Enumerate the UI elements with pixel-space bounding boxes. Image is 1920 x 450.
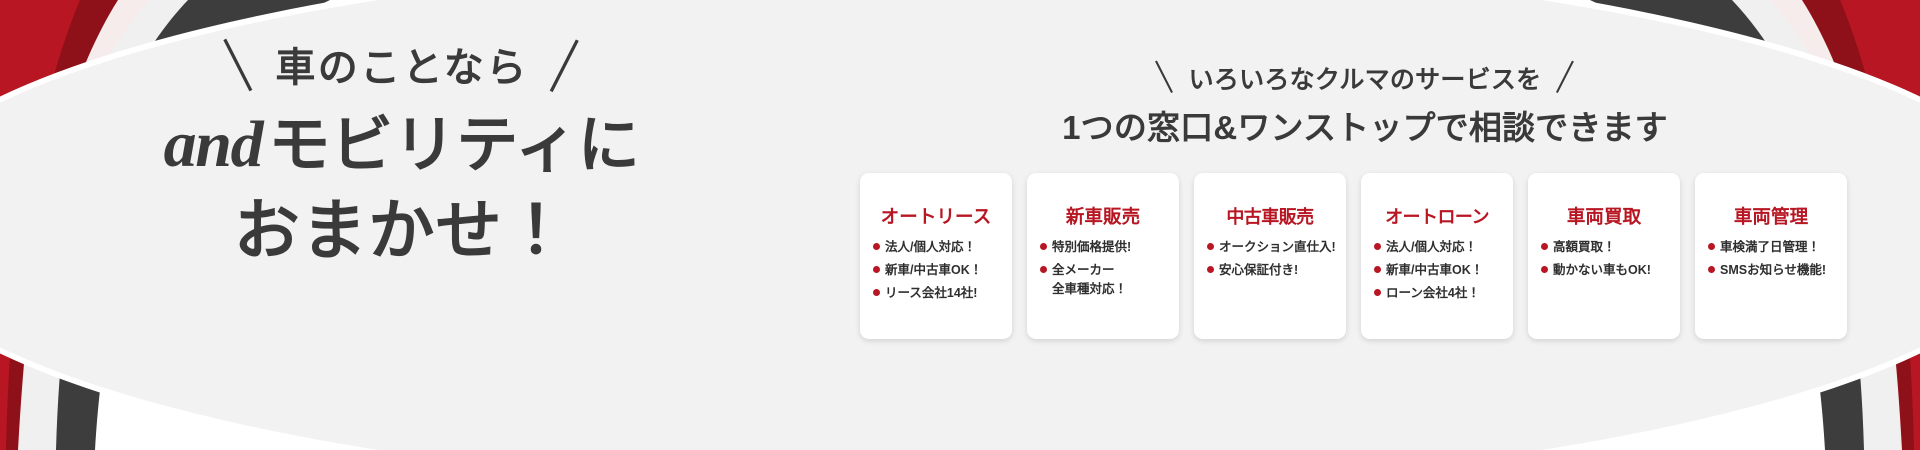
brand-rest-text: モビリティに [268, 111, 640, 180]
list-item: 動かない車もOK! [1535, 261, 1673, 280]
card-feature-text: オークション直仕入! [1219, 238, 1336, 257]
list-item: 全メーカー全車種対応！ [1034, 261, 1172, 299]
slash-left-icon: ＼ [1147, 61, 1181, 95]
sub-headline-main: 1つの窓口&ワンストップで相談できます [860, 101, 1870, 149]
card-title: 新車販売 [1066, 203, 1140, 229]
card-feature-text: リース会社14社! [885, 284, 977, 303]
bullet-dot-icon [1541, 243, 1548, 250]
left-last-line: おまかせ！ [92, 194, 712, 267]
bullet-dot-icon [1040, 266, 1047, 273]
card-feature-text: ローン会社4社！ [1386, 284, 1480, 303]
list-item: ローン会社4社！ [1368, 284, 1506, 303]
service-card-auto-lease[interactable]: オートリース 法人/個人対応！ 新車/中古車OK！ リース会社14社! [860, 173, 1012, 339]
sub-headline-top: ＼ いろいろなクルマのサービスを ／ [860, 60, 1870, 96]
bullet-dot-icon [873, 266, 880, 273]
list-item: SMSお知らせ機能! [1702, 261, 1840, 280]
card-feature-text: 高額買取！ [1553, 238, 1616, 257]
card-feature-text: 法人/個人対応！ [885, 238, 976, 257]
right-services-block: ＼ いろいろなクルマのサービスを ／ 1つの窓口&ワンストップで相談できます オ… [860, 60, 1870, 339]
service-card-vehicle-purchase[interactable]: 車両買取 高額買取！ 動かない車もOK! [1528, 173, 1680, 339]
card-feature-list: オークション直仕入! 安心保証付き! [1201, 238, 1339, 284]
list-item: 新車/中古車OK！ [867, 261, 1005, 280]
list-item: 法人/個人対応！ [1368, 238, 1506, 257]
card-feature-list: 法人/個人対応！ 新車/中古車OK！ ローン会社4社！ [1368, 238, 1506, 306]
service-card-auto-loan[interactable]: オートローン 法人/個人対応！ 新車/中古車OK！ ローン会社4社！ [1361, 173, 1513, 339]
catch-copy: ＼ 車のことなら ／ [92, 46, 712, 90]
card-feature-text: 安心保証付き! [1219, 261, 1298, 280]
service-card-vehicle-management[interactable]: 車両管理 車検満了日管理！ SMSお知らせ機能! [1695, 173, 1847, 339]
bullet-dot-icon [1207, 266, 1214, 273]
service-card-new-car-sales[interactable]: 新車販売 特別価格提供! 全メーカー全車種対応！ [1027, 173, 1179, 339]
card-feature-text: 特別価格提供! [1052, 238, 1131, 257]
list-item: 車検満了日管理！ [1702, 238, 1840, 257]
card-feature-list: 特別価格提供! 全メーカー全車種対応！ [1034, 238, 1172, 302]
bullet-dot-icon [1374, 266, 1381, 273]
catch-copy-text: 車のことなら [275, 46, 528, 90]
card-feature-list: 高額買取！ 動かない車もOK! [1535, 238, 1673, 284]
brand-and-text: and [164, 108, 269, 181]
list-item: 安心保証付き! [1201, 261, 1339, 280]
service-card-list: オートリース 法人/個人対応！ 新車/中古車OK！ リース会社14社! 新車販売… [860, 173, 1870, 339]
card-feature-text: 法人/個人対応！ [1386, 238, 1477, 257]
card-feature-text: 新車/中古車OK！ [885, 261, 982, 280]
slash-right-icon: ／ [537, 40, 595, 96]
slash-right-icon: ／ [1549, 61, 1583, 95]
card-feature-text: 新車/中古車OK！ [1386, 261, 1483, 280]
left-headline-block: ＼ 車のことなら ／ andモビリティに おまかせ！ [92, 46, 712, 267]
card-title: オートリース [881, 203, 992, 229]
bullet-dot-icon [1040, 243, 1047, 250]
brand-line: andモビリティに [92, 108, 712, 182]
promo-banner: ＼ 車のことなら ／ andモビリティに おまかせ！ ＼ いろいろなクルマのサー… [0, 0, 1920, 450]
bullet-dot-icon [1374, 243, 1381, 250]
bullet-dot-icon [873, 289, 880, 296]
card-feature-text: 動かない車もOK! [1553, 261, 1651, 280]
list-item: 新車/中古車OK！ [1368, 261, 1506, 280]
list-item: リース会社14社! [867, 284, 1005, 303]
card-title: 中古車販売 [1226, 203, 1313, 229]
list-item: 法人/個人対応！ [867, 238, 1005, 257]
slash-left-icon: ＼ [209, 40, 267, 96]
bullet-dot-icon [873, 243, 880, 250]
bullet-dot-icon [1541, 266, 1548, 273]
card-feature-text: SMSお知らせ機能! [1720, 261, 1826, 280]
card-feature-text-line2: 全車種対応！ [1052, 280, 1127, 299]
card-title: オートローン [1385, 203, 1489, 229]
card-feature-list: 車検満了日管理！ SMSお知らせ機能! [1702, 238, 1840, 284]
card-title: 車両買取 [1567, 203, 1641, 229]
bullet-dot-icon [1708, 243, 1715, 250]
list-item: オークション直仕入! [1201, 238, 1339, 257]
list-item: 特別価格提供! [1034, 238, 1172, 257]
bullet-dot-icon [1207, 243, 1214, 250]
bullet-dot-icon [1374, 289, 1381, 296]
service-card-used-car-sales[interactable]: 中古車販売 オークション直仕入! 安心保証付き! [1194, 173, 1346, 339]
bullet-dot-icon [1708, 266, 1715, 273]
card-feature-list: 法人/個人対応！ 新車/中古車OK！ リース会社14社! [867, 238, 1005, 306]
card-title: 車両管理 [1734, 203, 1808, 229]
list-item: 高額買取！ [1535, 238, 1673, 257]
card-feature-text: 車検満了日管理！ [1720, 238, 1820, 257]
sub-headline-top-text: いろいろなクルマのサービスを [1189, 60, 1542, 96]
card-feature-text: 全メーカー [1052, 263, 1115, 277]
